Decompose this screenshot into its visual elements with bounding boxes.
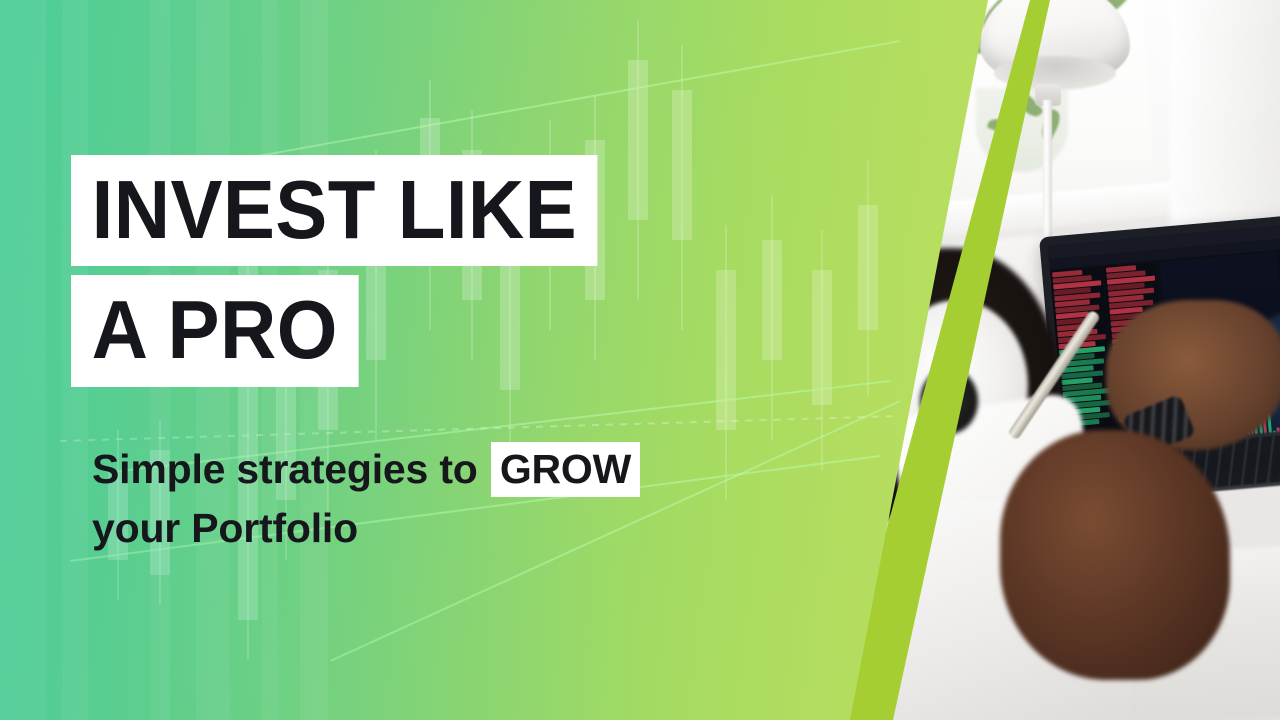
subheadline-prefix: Simple strategies to: [92, 446, 489, 492]
headline-line-1: INVEST LIKE: [71, 155, 598, 266]
headline-block: INVEST LIKE A PRO: [71, 155, 631, 387]
hand-holding-pen: [1000, 430, 1230, 680]
banner-root: INVEST LIKE A PRO Simple strategies to G…: [0, 0, 1280, 720]
subheadline-line-1: Simple strategies to GROW: [92, 440, 640, 499]
subheadline-block: Simple strategies to GROW your Portfolio: [92, 440, 640, 559]
subheadline-highlight: GROW: [491, 442, 640, 497]
subheadline-line-2: your Portfolio: [92, 499, 640, 558]
headline-line-2: A PRO: [71, 275, 358, 386]
